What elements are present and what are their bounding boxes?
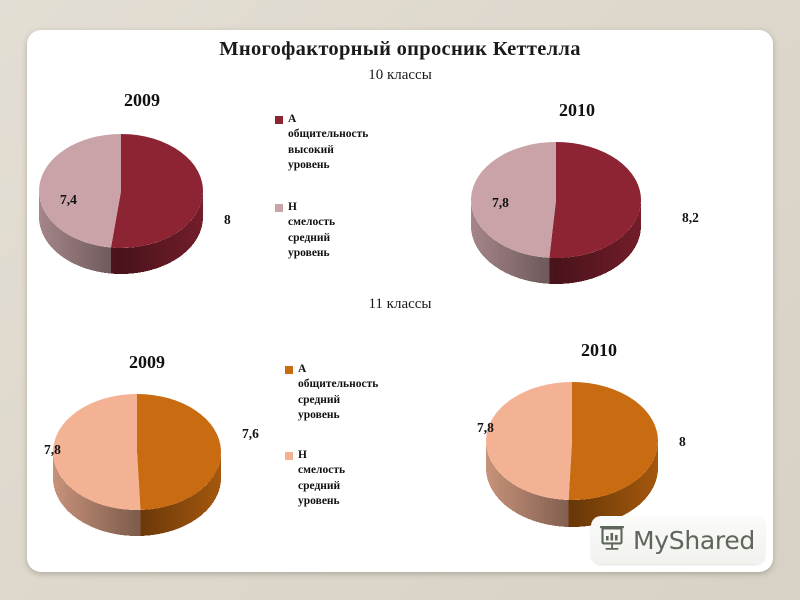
chart-title-bottom-right: 2010 bbox=[539, 340, 659, 361]
watermark: MyShared bbox=[591, 516, 765, 564]
pie-chart-2009-grade11 bbox=[49, 390, 227, 542]
slice-value-pink-top-right: 7,8 bbox=[492, 195, 509, 211]
presentation-chart-icon bbox=[597, 523, 627, 558]
chart-title-top-left: 2009 bbox=[82, 90, 202, 111]
legend-swatch-orange bbox=[285, 366, 293, 374]
watermark-label: MyShared bbox=[633, 526, 755, 555]
legend-swatch-peach bbox=[285, 452, 293, 460]
slice-value-peach-bottom-right: 7,8 bbox=[477, 420, 494, 436]
chart-title-top-right: 2010 bbox=[517, 100, 637, 121]
pie-chart-2010-grade11 bbox=[482, 378, 664, 533]
legend-swatch-pink-light bbox=[275, 204, 283, 212]
legend-item-n-smelost-mid-top[interactable]: Н смелость средний уровень bbox=[275, 200, 335, 261]
slice-value-red-top-right: 8,2 bbox=[682, 210, 699, 226]
legend-item-a-obshchitelnost-high[interactable]: А общительность высокий уровень bbox=[275, 112, 368, 173]
legend-label-a-obshchitelnost-mid: А общительность средний уровень bbox=[298, 362, 378, 423]
slice-value-red-top-left: 8 bbox=[224, 212, 231, 228]
page-title: Многофакторный опросник Кеттелла bbox=[27, 38, 773, 61]
slice-value-orange-bottom-right: 8 bbox=[679, 434, 686, 450]
section-label-grade-11: 11 классы bbox=[27, 296, 773, 313]
legend-label-n-smelost-mid-top: Н смелость средний уровень bbox=[288, 200, 335, 261]
legend-swatch-red-dark bbox=[275, 116, 283, 124]
pie-chart-2010-grade10 bbox=[467, 138, 647, 290]
slice-value-orange-bottom-left: 7,6 bbox=[242, 426, 259, 442]
slide-canvas: Многофакторный опросник Кеттелла 10 клас… bbox=[27, 30, 773, 572]
section-label-grade-10: 10 классы bbox=[27, 67, 773, 84]
legend-label-n-smelost-mid-bottom: Н смелость средний уровень bbox=[298, 448, 345, 509]
slice-value-pink-top-left: 7,4 bbox=[60, 192, 77, 208]
slice-value-peach-bottom-left: 7,8 bbox=[44, 442, 61, 458]
chart-title-bottom-left: 2009 bbox=[87, 352, 207, 373]
legend-item-a-obshchitelnost-mid[interactable]: А общительность средний уровень bbox=[285, 362, 378, 423]
legend-label-a-obshchitelnost-high: А общительность высокий уровень bbox=[288, 112, 368, 173]
legend-item-n-smelost-mid-bottom[interactable]: Н смелость средний уровень bbox=[285, 448, 345, 509]
slide-background: Многофакторный опросник Кеттелла 10 клас… bbox=[0, 0, 800, 600]
